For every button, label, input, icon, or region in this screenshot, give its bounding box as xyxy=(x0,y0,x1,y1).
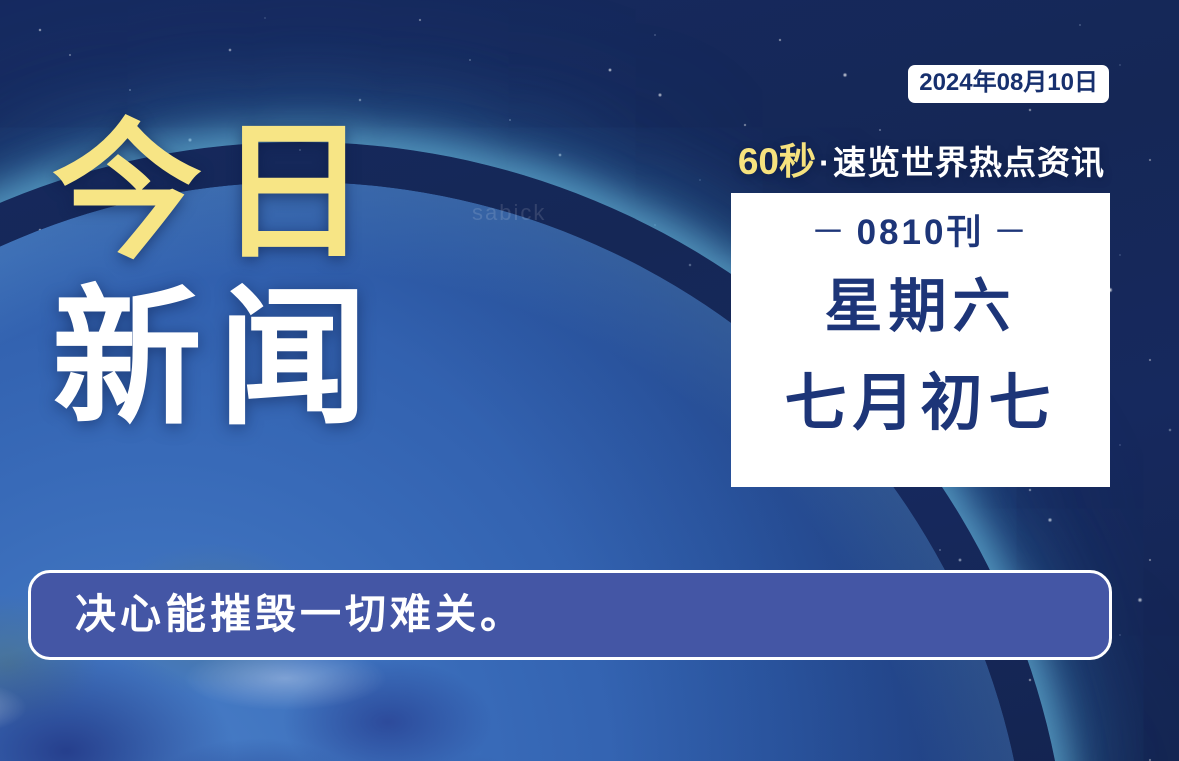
title-line-news: 新闻 xyxy=(52,262,384,454)
tagline-separator-dot: · xyxy=(816,144,833,181)
tagline-seconds: 60秒 xyxy=(738,141,816,182)
poster-title: 今日 新闻 xyxy=(52,96,384,454)
issue-row: －0810刊－ xyxy=(803,207,1039,260)
quote-text: 决心能摧毁一切难关。 xyxy=(75,590,525,639)
date-badge: 2024年08月10日 xyxy=(908,65,1109,103)
info-card: －0810刊－ 星期六 七月初七 xyxy=(731,193,1110,487)
weekday-label: 星期六 xyxy=(824,268,1016,346)
title-line-today: 今日 xyxy=(52,96,384,288)
issue-dash-left: － xyxy=(803,213,857,252)
quote-bar: 决心能摧毁一切难关。 xyxy=(28,570,1112,660)
watermark-text: sabick xyxy=(472,200,546,226)
news-poster: sabick 今日 新闻 2024年08月10日 60秒·速览世界热点资讯 －0… xyxy=(0,0,1179,761)
lunar-date-label: 七月初七 xyxy=(784,364,1056,445)
tagline: 60秒·速览世界热点资讯 xyxy=(738,140,1105,184)
issue-dash-right: － xyxy=(984,213,1038,252)
tagline-description: 速览世界热点资讯 xyxy=(833,144,1105,181)
issue-number: 0810刊 xyxy=(857,213,985,252)
